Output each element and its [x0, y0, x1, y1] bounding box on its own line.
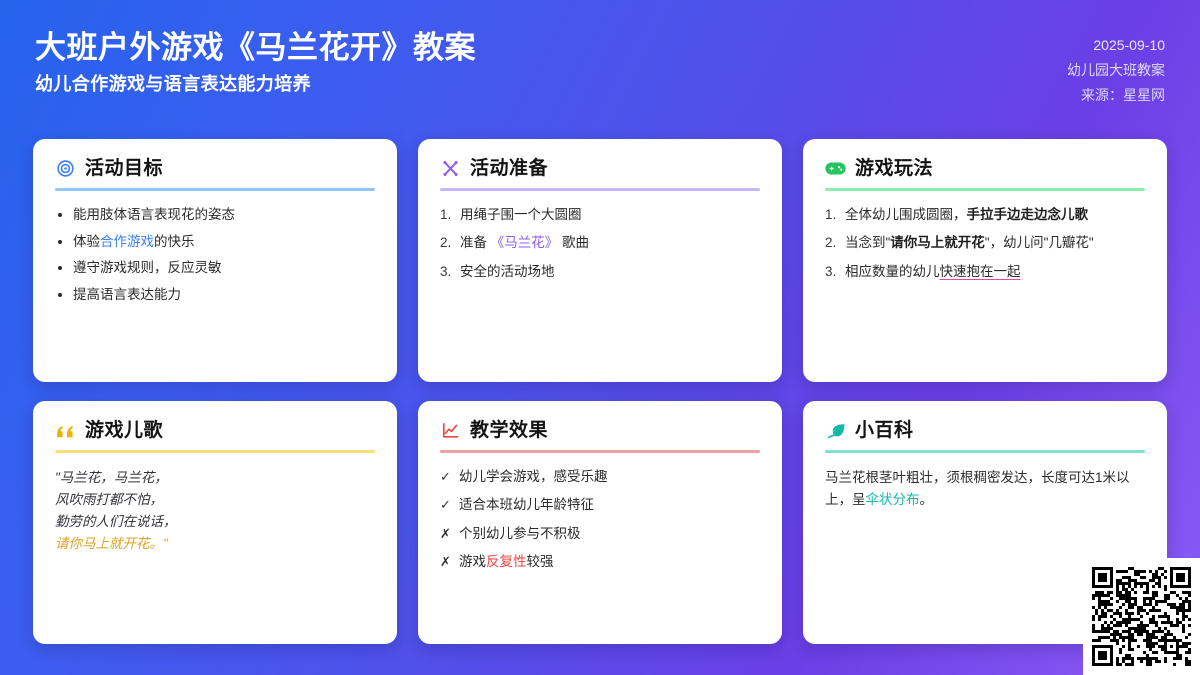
numbered-list: 用绳子围一个大圆圈准备 《马兰花》 歌曲安全的活动场地: [440, 205, 760, 282]
page-subtitle: 幼儿合作游戏与语言表达能力培养: [35, 73, 476, 96]
tools-icon: [440, 158, 461, 179]
list-item: ✓幼儿学会游戏，感受乐趣: [440, 467, 760, 487]
text-suffix: "，幼儿问"几瓣花": [985, 235, 1094, 250]
card-divider: [440, 450, 760, 453]
text-prefix: 游戏: [459, 554, 486, 569]
card-title: 游戏儿歌: [85, 421, 163, 440]
text-prefix: 遵守游戏规则，反应灵敏: [73, 260, 222, 275]
list-item: 能用肢体语言表现花的姿态: [55, 205, 375, 225]
card-teaching-effect: 教学效果 ✓幼儿学会游戏，感受乐趣✓适合本班幼儿年龄特征✗个别幼儿参与不积极✗游…: [418, 401, 782, 644]
text-prefix: 能用肢体语言表现花的姿态: [73, 207, 235, 222]
card-header: 游戏玩法: [825, 158, 1145, 179]
card-header: 活动目标: [55, 158, 375, 179]
list-item: 当念到"请你马上就开花"，幼儿问"几瓣花": [825, 233, 1145, 253]
text-highlight: 《马兰花》: [491, 235, 559, 250]
check-icon: ✓: [440, 467, 451, 487]
target-icon: [55, 158, 76, 179]
header-title-block: 大班户外游戏《马兰花开》教案 幼儿合作游戏与语言表达能力培养: [35, 22, 476, 95]
text-prefix: 当念到": [845, 235, 890, 250]
rhyme-text: "马兰花，马兰花，风吹雨打都不怕，勤劳的人们在说话，请你马上就开花。": [55, 467, 375, 554]
list-item: 全体幼儿围成圆圈，手拉手边走边念儿歌: [825, 205, 1145, 225]
text-prefix: 体验: [73, 234, 100, 249]
check-icon: ✓: [440, 495, 451, 515]
list-item: ✓适合本班幼儿年龄特征: [440, 495, 760, 515]
cross-icon: ✗: [440, 552, 451, 572]
card-divider: [825, 188, 1145, 191]
card-title: 活动目标: [85, 159, 163, 178]
rhyme-line: "马兰花，马兰花，: [55, 467, 375, 489]
card-grid: 活动目标 能用肢体语言表现花的姿态体验合作游戏的快乐遵守游戏规则，反应灵敏提高语…: [33, 139, 1167, 644]
card-header: 小百科: [825, 420, 1145, 441]
text-highlight: 请你马上就开花: [890, 235, 985, 250]
page-title: 大班户外游戏《马兰花开》教案: [35, 30, 476, 67]
quote-icon: [55, 420, 76, 441]
cross-icon: ✗: [440, 524, 451, 544]
checkmark-list: ✓幼儿学会游戏，感受乐趣✓适合本班幼儿年龄特征✗个别幼儿参与不积极✗游戏反复性较…: [440, 467, 760, 572]
text-highlight: 合作游戏: [100, 234, 154, 249]
card-divider: [55, 450, 375, 453]
header-date: 2025-09-10: [1093, 36, 1165, 55]
qr-code-panel: [1083, 558, 1200, 675]
card-divider: [440, 188, 760, 191]
card-divider: [825, 450, 1145, 453]
leaf-icon: [825, 420, 846, 441]
text-suffix: 的快乐: [154, 234, 195, 249]
text-highlight: 手拉手边走边念儿歌: [967, 207, 1089, 222]
card-header: 活动准备: [440, 158, 760, 179]
text-suffix: 歌曲: [558, 235, 589, 250]
rhyme-line: 勤劳的人们在说话，: [55, 511, 375, 533]
list-item: 安全的活动场地: [440, 262, 760, 282]
card-header: 游戏儿歌: [55, 420, 375, 441]
header-source: 来源：星星网: [1081, 86, 1165, 105]
card-title: 游戏玩法: [855, 159, 933, 178]
text-prefix: 相应数量的幼儿: [845, 264, 940, 279]
card-header: 教学效果: [440, 420, 760, 441]
text-suffix: 较强: [527, 554, 554, 569]
numbered-list: 全体幼儿围成圆圈，手拉手边走边念儿歌当念到"请你马上就开花"，幼儿问"几瓣花"相…: [825, 205, 1145, 282]
list-item: ✗游戏反复性较强: [440, 552, 760, 572]
card-activity-preparation: 活动准备 用绳子围一个大圆圈准备 《马兰花》 歌曲安全的活动场地: [418, 139, 782, 382]
list-item: 遵守游戏规则，反应灵敏: [55, 258, 375, 278]
text-prefix: 幼儿学会游戏，感受乐趣: [459, 469, 608, 484]
list-item: 相应数量的幼儿快速抱在一起: [825, 262, 1145, 282]
paragraph-text: 马兰花根茎叶粗壮，须根稠密发达，长度可达1米以上，呈伞状分布。: [825, 467, 1145, 511]
text-prefix: 全体幼儿围成圆圈，: [845, 207, 967, 222]
card-divider: [55, 188, 375, 191]
card-game-rules: 游戏玩法 全体幼儿围成圆圈，手拉手边走边念儿歌当念到"请你马上就开花"，幼儿问"…: [803, 139, 1167, 382]
page-header: 大班户外游戏《马兰花开》教案 幼儿合作游戏与语言表达能力培养 2025-09-1…: [0, 0, 1200, 125]
list-item: 用绳子围一个大圆圈: [440, 205, 760, 225]
header-meta-block: 2025-09-10 幼儿园大班教案 来源：星星网: [1067, 22, 1165, 105]
chart-line-icon: [440, 420, 461, 441]
text-highlight: 反复性: [486, 554, 527, 569]
rhyme-line: 请你马上就开花。": [55, 533, 375, 555]
list-item: 体验合作游戏的快乐: [55, 232, 375, 252]
card-title: 活动准备: [470, 159, 548, 178]
gamepad-icon: [825, 158, 846, 179]
text-prefix: 提高语言表达能力: [73, 287, 181, 302]
text-prefix: 安全的活动场地: [460, 264, 555, 279]
text-prefix: 适合本班幼儿年龄特征: [459, 497, 594, 512]
bullet-list: 能用肢体语言表现花的姿态体验合作游戏的快乐遵守游戏规则，反应灵敏提高语言表达能力: [55, 205, 375, 304]
text-prefix: 个别幼儿参与不积极: [459, 526, 581, 541]
card-title: 小百科: [855, 421, 914, 440]
text-suffix: 。: [920, 492, 934, 507]
rhyme-line: 风吹雨打都不怕，: [55, 489, 375, 511]
text-highlight: 快速抱在一起: [940, 264, 1021, 279]
text-prefix: 用绳子围一个大圆圈: [460, 207, 582, 222]
card-game-rhyme: 游戏儿歌 "马兰花，马兰花，风吹雨打都不怕，勤劳的人们在说话，请你马上就开花。": [33, 401, 397, 644]
card-activity-goals: 活动目标 能用肢体语言表现花的姿态体验合作游戏的快乐遵守游戏规则，反应灵敏提高语…: [33, 139, 397, 382]
qr-code[interactable]: [1092, 567, 1191, 666]
card-title: 教学效果: [470, 421, 548, 440]
text-prefix: 准备: [460, 235, 491, 250]
list-item: 提高语言表达能力: [55, 285, 375, 305]
header-category: 幼儿园大班教案: [1067, 61, 1165, 80]
list-item: ✗个别幼儿参与不积极: [440, 524, 760, 544]
list-item: 准备 《马兰花》 歌曲: [440, 233, 760, 253]
text-highlight: 伞状分布: [866, 492, 920, 507]
